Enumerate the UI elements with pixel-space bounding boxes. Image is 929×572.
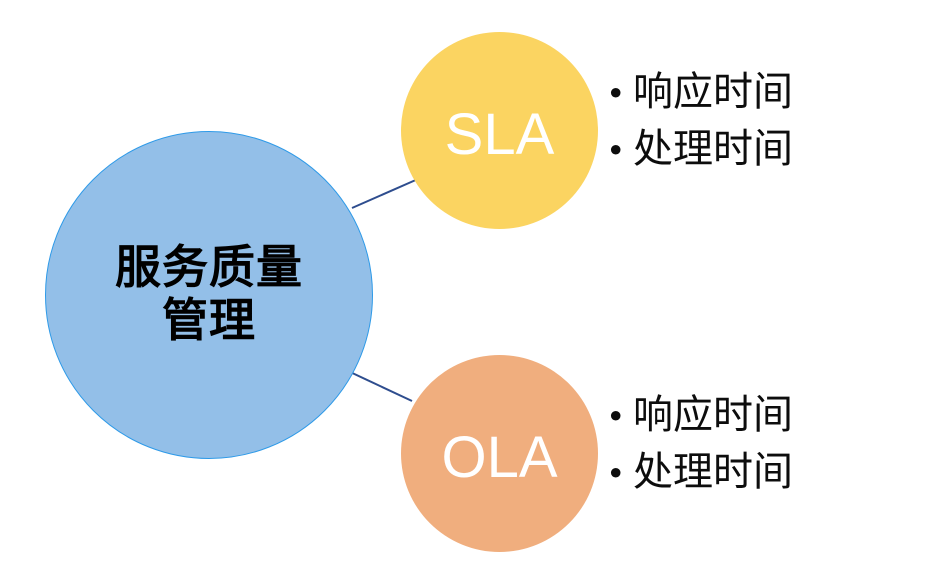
bullet-icon: •	[606, 134, 633, 167]
list-item-label: 响应时间	[633, 64, 793, 121]
core-node[interactable]: 服务质量 管理	[45, 131, 373, 459]
list-item: • 处理时间	[606, 444, 793, 501]
sla-attribute-list: • 响应时间 • 处理时间	[606, 64, 793, 178]
list-item: • 响应时间	[606, 387, 793, 444]
list-item: • 处理时间	[606, 121, 793, 178]
diagram-canvas: 服务质量 管理 SLA OLA • 响应时间 • 处理时间 • 响应时间 • 处…	[0, 0, 929, 572]
connector-core-to-sla	[352, 179, 418, 208]
ola-attribute-list: • 响应时间 • 处理时间	[606, 387, 793, 501]
list-item-label: 处理时间	[633, 444, 793, 501]
core-node-label: 服务质量 管理	[115, 241, 303, 348]
list-item-label: 处理时间	[633, 121, 793, 178]
connector-core-to-ola	[348, 371, 412, 401]
branch-node-ola[interactable]: OLA	[401, 355, 598, 552]
branch-node-sla[interactable]: SLA	[401, 32, 598, 229]
bullet-icon: •	[606, 77, 633, 110]
bullet-icon: •	[606, 457, 633, 490]
list-item: • 响应时间	[606, 64, 793, 121]
bullet-icon: •	[606, 400, 633, 433]
list-item-label: 响应时间	[633, 387, 793, 444]
branch-node-ola-label: OLA	[441, 429, 557, 487]
branch-node-sla-label: SLA	[445, 106, 555, 164]
